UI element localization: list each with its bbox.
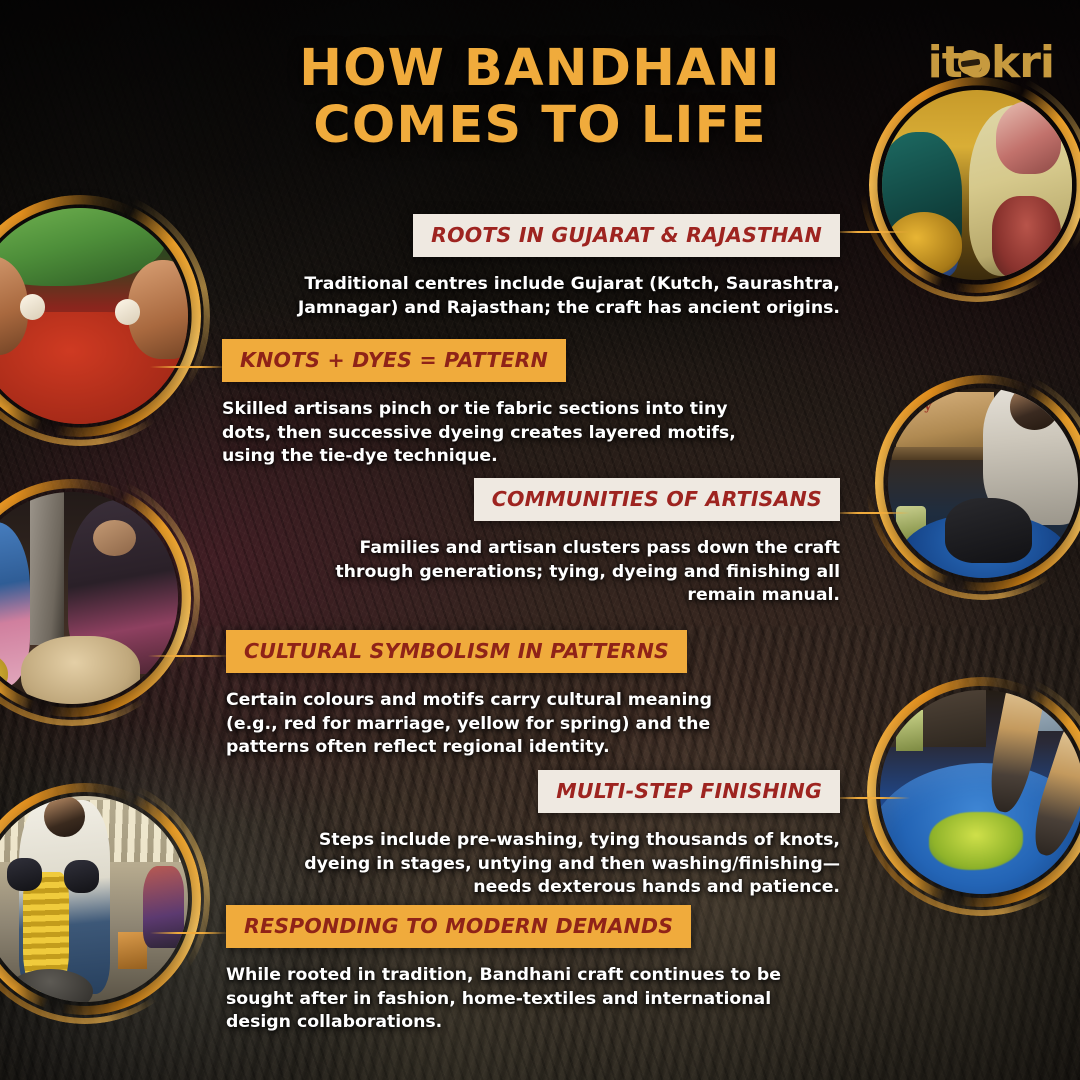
section-heading-modern-demands[interactable]: RESPONDING TO MODERN DEMANDS	[226, 905, 691, 948]
photo-man-lifting-yellow-cloth	[0, 796, 188, 1002]
section-roots: ROOTS IN GUJARAT & RAJASTHAN Traditional…	[280, 214, 840, 320]
photo-women-artisans-seated	[0, 492, 178, 704]
connector-line-finishing	[830, 797, 910, 799]
section-body-symbolism: Certain colours and motifs carry cultura…	[226, 689, 766, 760]
section-heading-knots-dyes[interactable]: KNOTS + DYES = PATTERN	[222, 339, 566, 382]
section-knots-dyes: KNOTS + DYES = PATTERN Skilled artisans …	[222, 339, 752, 469]
page-title-line-2: COMES TO LIFE	[0, 97, 1080, 154]
photo-frame	[0, 208, 188, 424]
connector-line-communities	[830, 512, 910, 514]
photo-frame	[0, 796, 188, 1002]
signboard-text: y.y	[909, 399, 933, 414]
photo-hands-tying-red-fabric	[0, 208, 188, 424]
photo-indigo-vat-sticks	[880, 690, 1080, 894]
brand-logo-text: itokri	[928, 41, 1054, 85]
section-heading-roots[interactable]: ROOTS IN GUJARAT & RAJASTHAN	[413, 214, 840, 257]
photo-frame	[0, 492, 178, 704]
section-body-roots: Traditional centres include Gujarat (Kut…	[280, 273, 840, 320]
section-body-finishing: Steps include pre-washing, tying thousan…	[300, 829, 840, 900]
section-heading-finishing[interactable]: MULTI-STEP FINISHING	[538, 770, 840, 813]
section-body-knots-dyes: Skilled artisans pinch or tie fabric sec…	[222, 398, 752, 469]
section-heading-symbolism[interactable]: CULTURAL SYMBOLISM IN PATTERNS	[226, 630, 687, 673]
section-body-modern-demands: While rooted in tradition, Bandhani craf…	[226, 964, 786, 1035]
connector-line-symbolism	[148, 655, 230, 657]
section-body-communities: Families and artisan clusters pass down …	[300, 537, 840, 608]
section-modern-demands: RESPONDING TO MODERN DEMANDS While roote…	[226, 905, 786, 1035]
photo-dyer-blue-vat-gloves: y.y	[888, 388, 1078, 578]
section-heading-communities[interactable]: COMMUNITIES OF ARTISANS	[474, 478, 840, 521]
photo-frame: y.y	[888, 388, 1078, 578]
connector-line-modern	[150, 932, 230, 934]
page-title: HOW BANDHANI COMES TO LIFE	[0, 40, 1080, 154]
brand-logo[interactable]: itokri	[928, 36, 1054, 90]
photo-frame	[880, 690, 1080, 894]
section-symbolism: CULTURAL SYMBOLISM IN PATTERNS Certain c…	[226, 630, 766, 760]
section-finishing: MULTI-STEP FINISHING Steps include pre-w…	[300, 770, 840, 900]
connector-line-knots	[150, 366, 228, 368]
page-title-line-1: HOW BANDHANI	[299, 39, 781, 98]
section-communities: COMMUNITIES OF ARTISANS Families and art…	[300, 478, 840, 608]
logo-o-mark	[958, 50, 983, 75]
connector-line-roots	[830, 231, 910, 233]
